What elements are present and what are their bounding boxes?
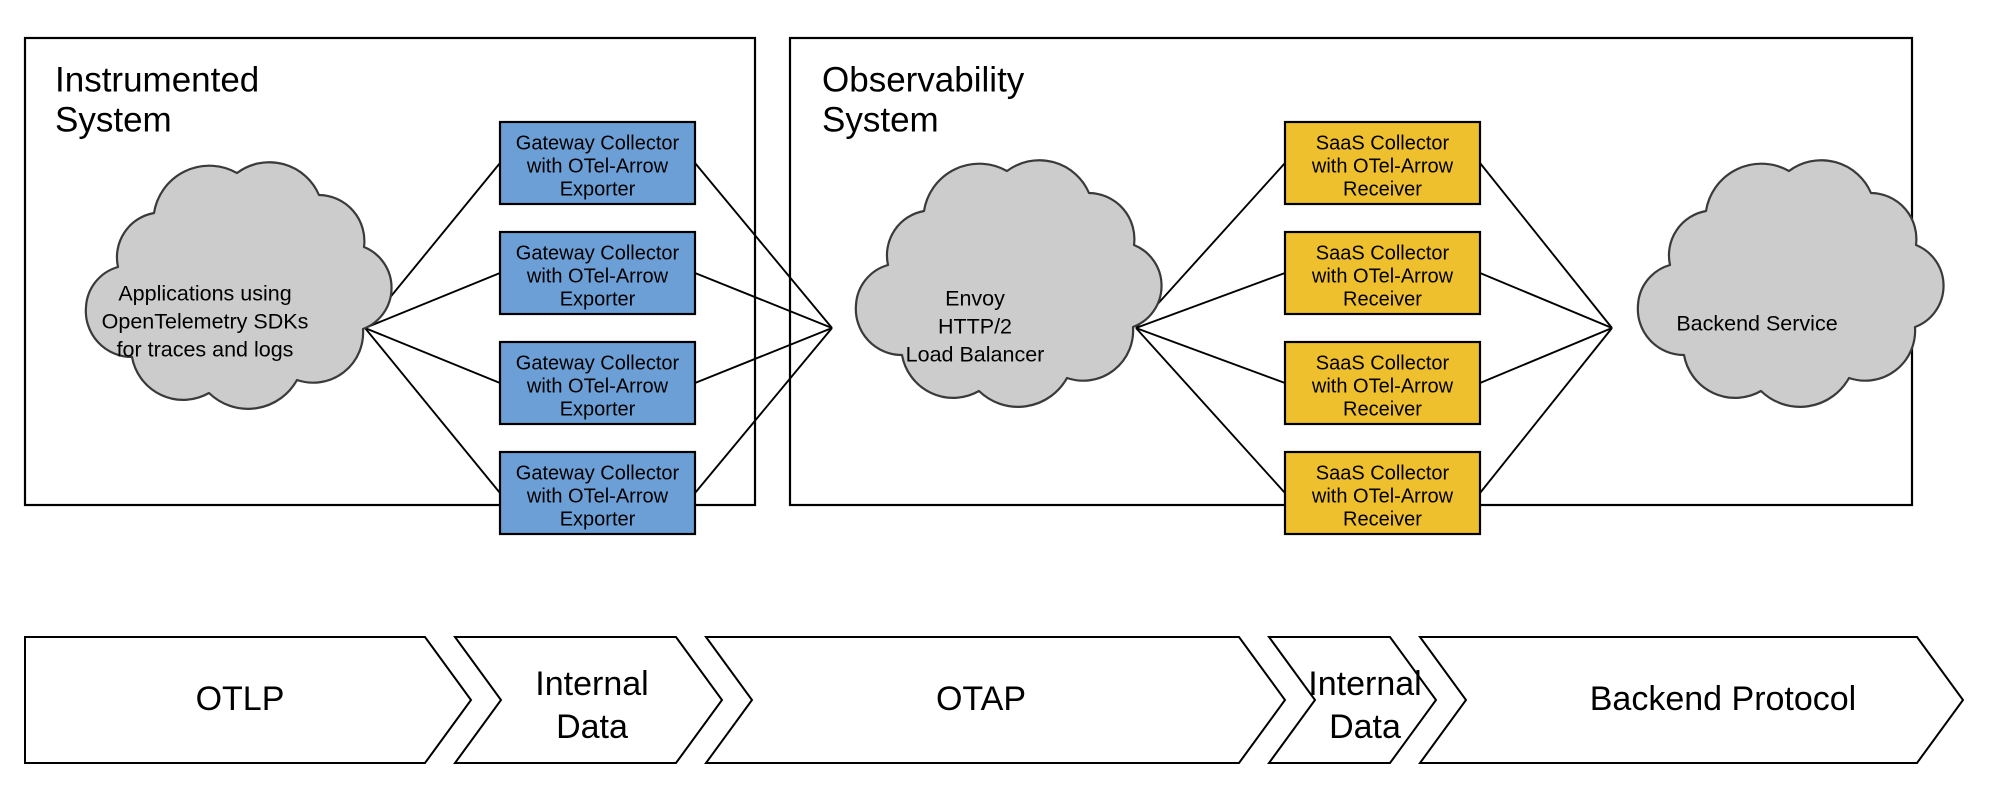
gateway-collector-3[interactable]: Gateway Collector with OTel-Arrow Export… bbox=[500, 342, 695, 424]
protocol-chevron-backend-protocol[interactable]: Backend Protocol bbox=[1420, 637, 1963, 763]
saas-collector-1-line-3: Receiver bbox=[1343, 178, 1422, 200]
applications-cloud-line-3: for traces and logs bbox=[117, 338, 294, 362]
protocol-chevron-otlp[interactable]: OTLP bbox=[25, 637, 471, 763]
envoy-cloud-line-2: HTTP/2 bbox=[938, 315, 1012, 339]
gateway-collector-4[interactable]: Gateway Collector with OTel-Arrow Export… bbox=[500, 452, 695, 534]
backend-service-cloud-line-1: Backend Service bbox=[1676, 312, 1837, 336]
panel-title-instrumented-line1: Instrumented bbox=[55, 60, 259, 99]
protocol-chevron-otap[interactable]: OTAP bbox=[706, 637, 1285, 763]
protocol-chevron-internal-data-1-line-2: Data bbox=[556, 708, 628, 746]
gateway-collector-2-line-3: Exporter bbox=[560, 288, 636, 310]
gateway-collector-2-line-1: Gateway Collector bbox=[516, 242, 680, 264]
protocol-chevron-internal-data-2-line-1: Internal bbox=[1308, 665, 1421, 703]
gateway-collector-2[interactable]: Gateway Collector with OTel-Arrow Export… bbox=[500, 232, 695, 314]
saas-collector-1[interactable]: SaaS Collector with OTel-Arrow Receiver bbox=[1285, 122, 1480, 204]
panel-title-observability-line2: System bbox=[822, 100, 939, 139]
saas-collector-4-line-1: SaaS Collector bbox=[1316, 462, 1450, 484]
gateway-collector-1-line-1: Gateway Collector bbox=[516, 132, 680, 154]
protocol-chevron-backend-protocol-label: Backend Protocol bbox=[1590, 680, 1857, 718]
gateway-collector-3-line-1: Gateway Collector bbox=[516, 352, 680, 374]
architecture-diagram: Instrumented System Observability System bbox=[0, 0, 1989, 792]
saas-collector-4-line-2: with OTel-Arrow bbox=[1311, 485, 1454, 507]
saas-collector-3[interactable]: SaaS Collector with OTel-Arrow Receiver bbox=[1285, 342, 1480, 424]
panel-title-observability-line1: Observability bbox=[822, 60, 1025, 99]
gateway-collector-1-line-3: Exporter bbox=[560, 178, 636, 200]
gateway-collector-4-line-2: with OTel-Arrow bbox=[526, 485, 669, 507]
gateway-collector-4-line-1: Gateway Collector bbox=[516, 462, 680, 484]
saas-collector-4-line-3: Receiver bbox=[1343, 508, 1422, 530]
panel-title-instrumented-line2: System bbox=[55, 100, 172, 139]
diagram-canvas: Instrumented System Observability System bbox=[0, 0, 1989, 792]
applications-cloud-line-2: OpenTelemetry SDKs bbox=[102, 310, 309, 334]
protocol-chevron-otap-label: OTAP bbox=[936, 680, 1026, 718]
saas-collector-1-line-1: SaaS Collector bbox=[1316, 132, 1450, 154]
gateway-collector-1[interactable]: Gateway Collector with OTel-Arrow Export… bbox=[500, 122, 695, 204]
protocol-chevron-otlp-label: OTLP bbox=[196, 680, 285, 718]
protocol-chevron-internal-data-2-line-2: Data bbox=[1329, 708, 1401, 746]
saas-collector-2[interactable]: SaaS Collector with OTel-Arrow Receiver bbox=[1285, 232, 1480, 314]
protocol-chevron-internal-data-1-line-1: Internal bbox=[535, 665, 648, 703]
saas-collector-3-line-1: SaaS Collector bbox=[1316, 352, 1450, 374]
saas-collector-2-line-3: Receiver bbox=[1343, 288, 1422, 310]
saas-collector-2-line-2: with OTel-Arrow bbox=[1311, 265, 1454, 287]
gateway-collector-1-line-2: with OTel-Arrow bbox=[526, 155, 669, 177]
gateway-collector-3-line-3: Exporter bbox=[560, 398, 636, 420]
protocol-chevron-internal-data-1[interactable]: Internal Data bbox=[455, 637, 722, 763]
saas-collector-3-line-3: Receiver bbox=[1343, 398, 1422, 420]
protocol-chevron-internal-data-2[interactable]: Internal Data bbox=[1269, 637, 1436, 763]
envoy-cloud-line-1: Envoy bbox=[945, 287, 1005, 311]
gateway-collector-4-line-3: Exporter bbox=[560, 508, 636, 530]
saas-collector-4[interactable]: SaaS Collector with OTel-Arrow Receiver bbox=[1285, 452, 1480, 534]
saas-collector-2-line-1: SaaS Collector bbox=[1316, 242, 1450, 264]
envoy-cloud-line-3: Load Balancer bbox=[906, 343, 1045, 367]
gateway-collector-2-line-2: with OTel-Arrow bbox=[526, 265, 669, 287]
applications-cloud-line-1: Applications using bbox=[118, 282, 291, 306]
saas-collector-3-line-2: with OTel-Arrow bbox=[1311, 375, 1454, 397]
gateway-collector-3-line-2: with OTel-Arrow bbox=[526, 375, 669, 397]
saas-collector-1-line-2: with OTel-Arrow bbox=[1311, 155, 1454, 177]
